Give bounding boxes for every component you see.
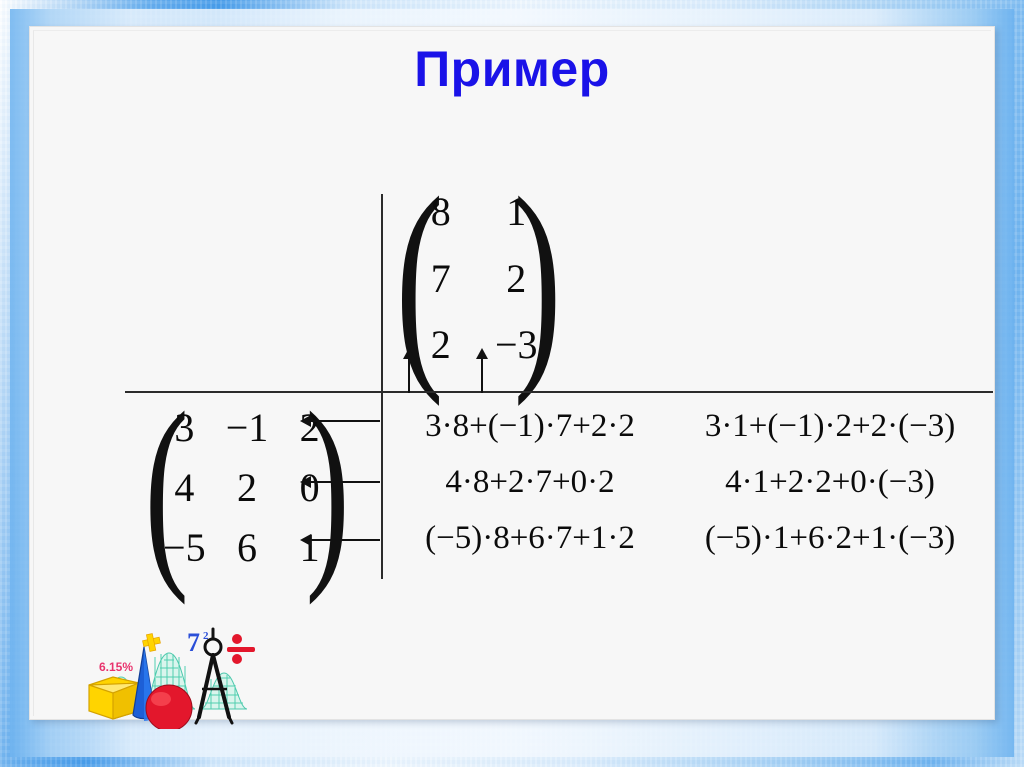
product-matrix: 3·8+(−1)·7+2·2 3·1+(−1)·2+2·(−3) 4·8+2·7…: [389, 398, 989, 566]
matrix-b-cell: −3: [479, 325, 555, 365]
row-arrow-1: [310, 420, 380, 422]
product-row: 3·8+(−1)·7+2·2 3·1+(−1)·2+2·(−3): [389, 398, 989, 454]
matrix-a-row: −5 6 1: [153, 528, 341, 568]
product-cell: (−5)·1+6·2+1·(−3): [671, 522, 989, 555]
matrix-a-row: 4 2 0: [153, 468, 341, 508]
matrix-a-cell: 4: [153, 468, 216, 508]
row-arrow-3: [310, 539, 380, 541]
matrix-a: ( ) 3 −1 2 4 2 0 −5 6 1: [131, 402, 363, 574]
matrix-a-cell: 0: [278, 468, 341, 508]
plus-sign-icon: [143, 634, 161, 652]
matrix-b-cell: 1: [479, 192, 555, 232]
matrix-a-row: 3 −1 2: [153, 408, 341, 448]
matrix-a-cell: −5: [153, 528, 216, 568]
product-cell: 3·1+(−1)·2+2·(−3): [671, 410, 989, 443]
power-label: 7: [187, 628, 200, 657]
product-row: 4·8+2·7+0·2 4·1+2·2+0·(−3): [389, 454, 989, 510]
math-clipart: 6.15%: [81, 611, 259, 729]
red-sphere-icon: [146, 685, 192, 729]
matrix-b-cell: 7: [403, 259, 479, 299]
column-arrow-1: [408, 357, 410, 393]
matrix-a-cell: 3: [153, 408, 216, 448]
matrix-b-row: 2 −3: [403, 325, 554, 365]
matrix-a-cell: 2: [278, 408, 341, 448]
matrix-a-cell: 6: [216, 528, 279, 568]
matrix-b-row: 8 1: [403, 192, 554, 232]
product-row: (−5)·8+6·7+1·2 (−5)·1+6·2+1·(−3): [389, 510, 989, 566]
yellow-cube-icon: [89, 677, 139, 719]
product-cell: (−5)·8+6·7+1·2: [389, 522, 671, 555]
slide-canvas: Пример ( ) 8 1 7 2 2 −3: [0, 0, 1024, 767]
row-arrow-2: [310, 481, 380, 483]
matrix-a-cell: −1: [216, 408, 279, 448]
percent-label: 6.15%: [99, 660, 133, 674]
column-arrow-2: [481, 357, 483, 393]
matrix-b: ( ) 8 1 7 2 2 −3: [381, 186, 576, 371]
vertical-divider-line: [381, 194, 383, 579]
division-sign-icon: [227, 634, 255, 664]
product-cell: 4·8+2·7+0·2: [389, 466, 671, 499]
product-cell: 3·8+(−1)·7+2·2: [389, 410, 671, 443]
matrix-b-cell: 8: [403, 192, 479, 232]
matrix-b-row: 7 2: [403, 259, 554, 299]
matrix-b-cell: 2: [403, 325, 479, 365]
matrix-a-cell: 2: [216, 468, 279, 508]
matrix-b-cell: 2: [479, 259, 555, 299]
horizontal-divider-line: [125, 391, 993, 393]
math-work-area: ( ) 8 1 7 2 2 −3 ( ): [29, 26, 995, 720]
product-cell: 4·1+2·2+0·(−3): [671, 466, 989, 499]
